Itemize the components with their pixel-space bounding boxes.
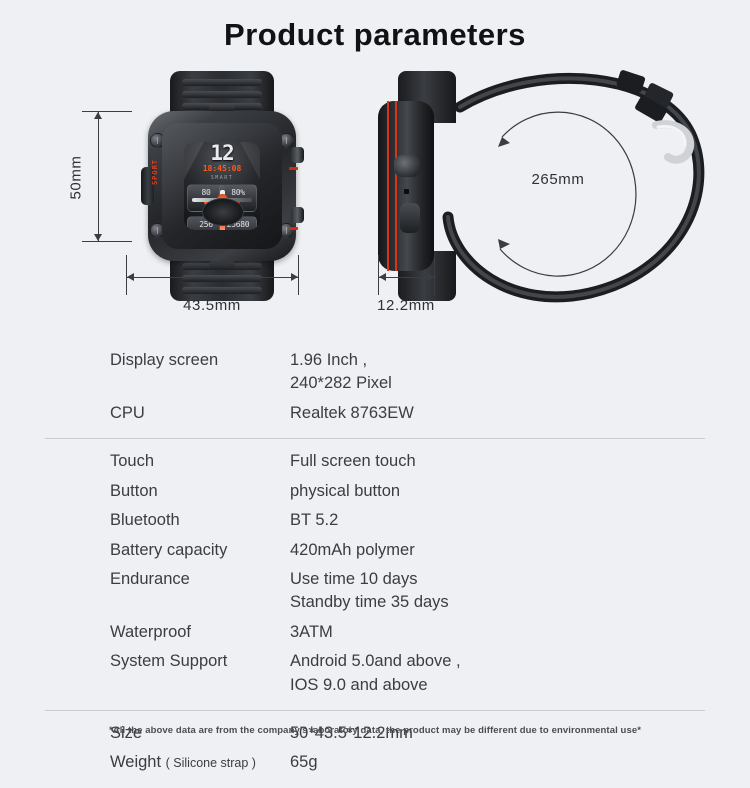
spec-group-physical: Size 50*43.5*12.2mm Weight ( Silicone st… bbox=[0, 711, 750, 788]
spec-value: Full screen touch bbox=[290, 450, 750, 473]
table-row: Battery capacity 420mAh polymer bbox=[0, 536, 750, 565]
lug-bottom bbox=[209, 261, 235, 269]
product-illustration: 50mm SPORT bbox=[0, 59, 750, 324]
table-row: System Support Android 5.0and above , IO… bbox=[0, 647, 750, 700]
spec-key-note: ( Silicone strap ) bbox=[166, 756, 256, 770]
watch-screen[interactable]: 12 18:45:08 SMART 80 ♥ 80% ▮ 256 ▲ bbox=[184, 142, 260, 230]
spec-key: Battery capacity bbox=[0, 539, 290, 562]
watch-face-time: 18:45:08 bbox=[184, 165, 260, 174]
watch-front-view: SPORT 12 18:45:08 SMART 80 ♥ 80% bbox=[132, 71, 312, 301]
thickness-dim-right-tick bbox=[434, 255, 435, 295]
strap-rib bbox=[182, 79, 262, 86]
spec-key: Button bbox=[0, 480, 290, 503]
spec-value: BT 5.2 bbox=[290, 509, 750, 532]
watch-side-button[interactable] bbox=[400, 203, 420, 233]
watch-case: SPORT 12 18:45:08 SMART 80 ♥ 80% bbox=[148, 111, 296, 261]
side-button-top[interactable] bbox=[291, 147, 304, 163]
table-row: Button physical button bbox=[0, 477, 750, 506]
red-accent-stripe bbox=[395, 101, 397, 271]
spec-key: Touch bbox=[0, 450, 290, 473]
spec-value: Android 5.0and above , IOS 9.0 and above bbox=[290, 650, 750, 697]
red-accent-stripe bbox=[289, 227, 298, 230]
spec-value: Realtek 8763EW bbox=[290, 402, 750, 425]
spec-key: System Support bbox=[0, 650, 290, 673]
spec-key: CPU bbox=[0, 402, 290, 425]
table-row: Touch Full screen touch bbox=[0, 447, 750, 476]
thickness-arrow-right-icon bbox=[427, 273, 434, 281]
watch-face-subdial bbox=[202, 198, 244, 226]
red-accent-stripe bbox=[289, 167, 298, 170]
spec-key: Display screen bbox=[0, 349, 290, 372]
width-arrow-right-icon bbox=[291, 273, 298, 281]
height-dim-axis bbox=[98, 111, 99, 241]
spec-value: Use time 10 days Standby time 35 days bbox=[290, 568, 750, 615]
arc-arrow-bottom-icon bbox=[498, 239, 510, 249]
watch-face-brand: SMART bbox=[184, 175, 260, 181]
table-row: Waterproof 3ATM bbox=[0, 618, 750, 647]
strap-rib bbox=[182, 91, 262, 98]
spec-key: Bluetooth bbox=[0, 509, 290, 532]
spec-key: Endurance bbox=[0, 568, 290, 591]
width-dimension-label: 43.5mm bbox=[126, 297, 298, 314]
width-dim-right-tick bbox=[298, 255, 299, 295]
width-arrow-left-icon bbox=[127, 273, 134, 281]
disclaimer-footnote: *All the above data are from the company… bbox=[0, 725, 750, 736]
watch-face-hour: 12 bbox=[184, 143, 260, 164]
spec-value: 1.96 Inch , 240*282 Pixel bbox=[290, 349, 750, 396]
spec-key: Waterproof bbox=[0, 621, 290, 644]
thickness-arrow-left-icon bbox=[379, 273, 386, 281]
spec-key-main: Weight bbox=[110, 753, 161, 771]
arc-arrow-top-icon bbox=[498, 137, 510, 147]
lug-top bbox=[209, 103, 235, 111]
table-row: CPU Realtek 8763EW bbox=[0, 399, 750, 428]
side-button-bottom[interactable] bbox=[291, 207, 304, 223]
height-dim-bottom-tick bbox=[82, 241, 132, 242]
circumference-arc bbox=[500, 112, 636, 276]
spec-group-features: Touch Full screen touch Button physical … bbox=[0, 439, 750, 710]
watch-microphone-port bbox=[404, 189, 409, 194]
watch-bezel: 12 18:45:08 SMART 80 ♥ 80% ▮ 256 ▲ bbox=[162, 123, 282, 249]
page-title: Product parameters bbox=[0, 0, 750, 53]
watch-crown[interactable] bbox=[394, 155, 420, 177]
height-dimension-label: 50mm bbox=[68, 148, 85, 208]
red-accent-stripe bbox=[387, 101, 389, 271]
width-dim-axis bbox=[126, 277, 298, 278]
table-row: Bluetooth BT 5.2 bbox=[0, 506, 750, 535]
spec-value: physical button bbox=[290, 480, 750, 503]
strap-loop-illustration: 265mm bbox=[440, 67, 740, 307]
specifications-table: Display screen 1.96 Inch , 240*282 Pixel… bbox=[0, 338, 750, 788]
table-row: Endurance Use time 10 days Standby time … bbox=[0, 565, 750, 618]
spec-value: 65g bbox=[290, 751, 750, 774]
spec-group-display: Display screen 1.96 Inch , 240*282 Pixel… bbox=[0, 338, 750, 438]
spec-key: Weight ( Silicone strap ) bbox=[0, 751, 290, 774]
height-dim-top-tick bbox=[82, 111, 132, 112]
strap-rib bbox=[182, 287, 262, 294]
height-arrow-up-icon bbox=[94, 112, 102, 119]
height-arrow-down-icon bbox=[94, 234, 102, 241]
sport-label: SPORT bbox=[151, 154, 159, 190]
spec-value: 3ATM bbox=[290, 621, 750, 644]
thickness-dim-axis bbox=[378, 277, 434, 278]
table-row: Weight ( Silicone strap ) 65g bbox=[0, 748, 750, 777]
table-row: Display screen 1.96 Inch , 240*282 Pixel bbox=[0, 346, 750, 399]
strap-length-label: 265mm bbox=[498, 171, 618, 188]
spec-value: 420mAh polymer bbox=[290, 539, 750, 562]
